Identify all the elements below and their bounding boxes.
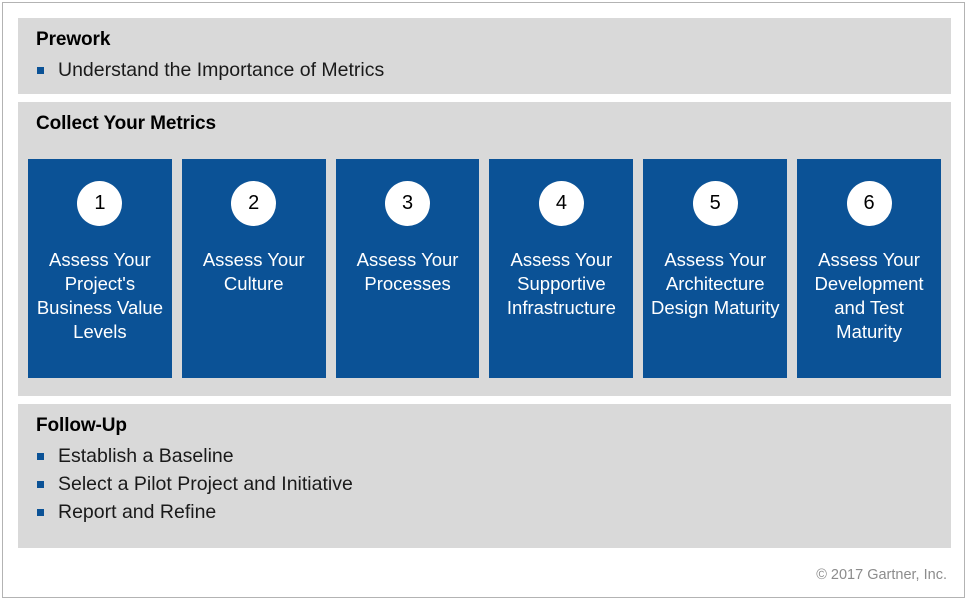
followup-title: Follow-Up: [36, 415, 127, 437]
card-label: Assess Your Architecture Design Maturity: [643, 248, 787, 320]
list-item: Report and Refine: [36, 498, 353, 526]
metric-card-4[interactable]: 4 Assess Your Supportive Infrastructure: [489, 159, 633, 378]
card-number-badge: 3: [385, 181, 430, 226]
card-label: Assess Your Processes: [336, 248, 480, 296]
followup-item-label: Report and Refine: [58, 501, 216, 523]
card-label: Assess Your Project's Business Value Lev…: [28, 248, 172, 344]
followup-item-label: Establish a Baseline: [58, 445, 234, 467]
card-number-badge: 2: [231, 181, 276, 226]
square-bullet-icon: [37, 453, 44, 460]
collect-metrics-title: Collect Your Metrics: [36, 113, 216, 135]
card-number-badge: 6: [847, 181, 892, 226]
list-item: Establish a Baseline: [36, 442, 353, 470]
card-label: Assess Your Culture: [182, 248, 326, 296]
prework-panel: Prework Understand the Importance of Met…: [18, 18, 951, 94]
square-bullet-icon: [37, 509, 44, 516]
followup-panel: Follow-Up Establish a Baseline Select a …: [18, 404, 951, 548]
card-number-badge: 5: [693, 181, 738, 226]
square-bullet-icon: [37, 481, 44, 488]
prework-bullet-list: Understand the Importance of Metrics: [36, 56, 384, 84]
followup-bullet-list: Establish a Baseline Select a Pilot Proj…: [36, 442, 353, 526]
followup-item-label: Select a Pilot Project and Initiative: [58, 473, 353, 495]
card-number-badge: 4: [539, 181, 584, 226]
copyright-notice: © 2017 Gartner, Inc.: [816, 567, 947, 583]
metric-card-2[interactable]: 2 Assess Your Culture: [182, 159, 326, 378]
list-item: Select a Pilot Project and Initiative: [36, 470, 353, 498]
card-label: Assess Your Supportive Infrastructure: [489, 248, 633, 320]
slide-frame: Prework Understand the Importance of Met…: [2, 2, 965, 598]
prework-title: Prework: [36, 29, 110, 51]
metric-cards-row: 1 Assess Your Project's Business Value L…: [28, 159, 941, 378]
metric-card-6[interactable]: 6 Assess Your Development and Test Matur…: [797, 159, 941, 378]
collect-metrics-panel: Collect Your Metrics 1 Assess Your Proje…: [18, 102, 951, 396]
metric-card-3[interactable]: 3 Assess Your Processes: [336, 159, 480, 378]
prework-item-label: Understand the Importance of Metrics: [58, 59, 384, 81]
card-label: Assess Your Development and Test Maturit…: [797, 248, 941, 344]
metric-card-1[interactable]: 1 Assess Your Project's Business Value L…: [28, 159, 172, 378]
square-bullet-icon: [37, 67, 44, 74]
metric-card-5[interactable]: 5 Assess Your Architecture Design Maturi…: [643, 159, 787, 378]
card-number-badge: 1: [77, 181, 122, 226]
list-item: Understand the Importance of Metrics: [36, 56, 384, 84]
